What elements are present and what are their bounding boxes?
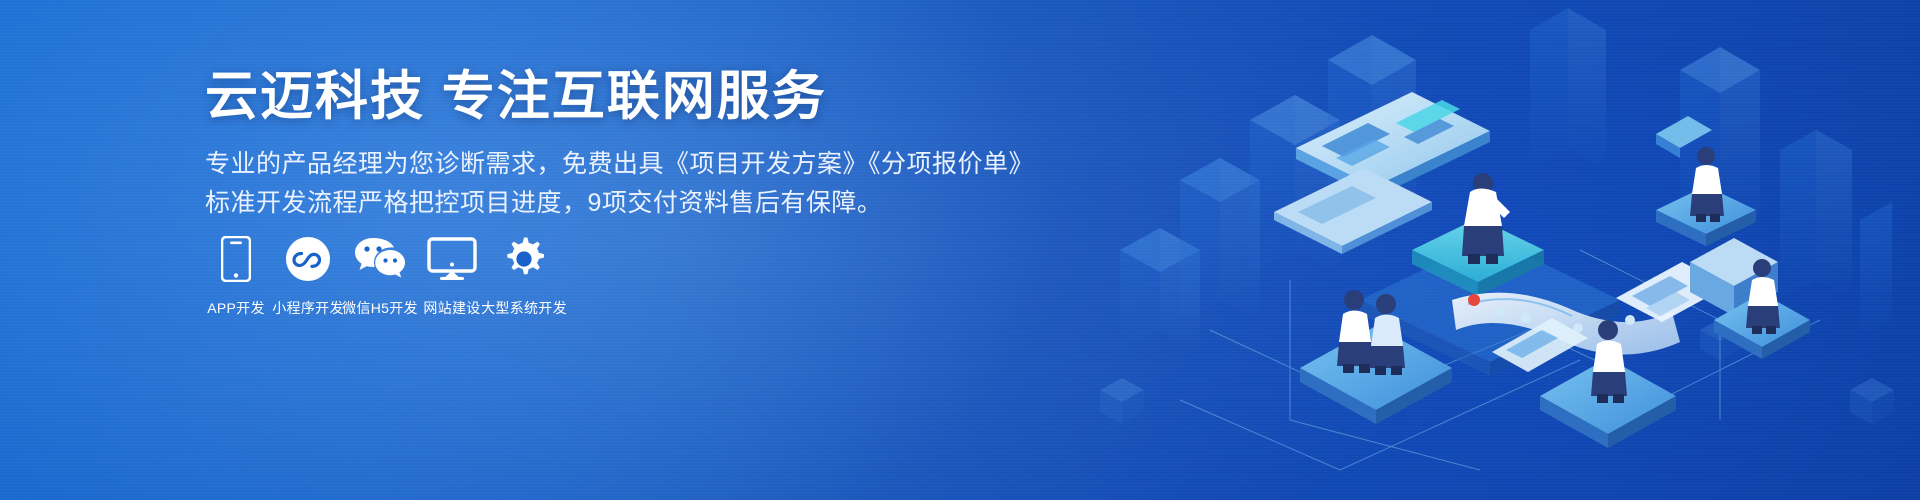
service-item-large-system[interactable]: 大型系统开发 (488, 234, 560, 318)
person-center (1462, 173, 1510, 264)
gear-icon (501, 234, 547, 284)
service-item-app[interactable]: APP开发 (200, 234, 272, 318)
service-label: 大型系统开发 (481, 298, 567, 318)
service-item-website[interactable]: 网站建设 (416, 234, 488, 318)
hero-banner: 云迈科技 专注互联网服务 专业的产品经理为您诊断需求，免费出具《项目开发方案》《… (0, 0, 1920, 500)
subtitle-line-2: 标准开发流程严格把控项目进度，9项交付资料售后有保障。 (205, 186, 1105, 222)
wechat-icon (354, 234, 406, 284)
monitor-icon (427, 234, 477, 284)
mini-program-icon (285, 234, 331, 284)
service-label: APP开发 (207, 298, 265, 318)
service-list: APP开发 小程序开发 微信 (200, 234, 560, 318)
service-item-wechat-h5[interactable]: 微信H5开发 (344, 234, 416, 318)
mobile-phone-icon (221, 234, 251, 284)
banner-content: 云迈科技 专注互联网服务 专业的产品经理为您诊断需求，免费出具《项目开发方案》《… (205, 66, 1105, 222)
service-label: 小程序开发 (272, 298, 344, 318)
isometric-illustration (1060, 0, 1920, 500)
service-label: 微信H5开发 (342, 298, 418, 318)
service-label: 网站建设 (423, 298, 480, 318)
subtitle-line-1: 专业的产品经理为您诊断需求，免费出具《项目开发方案》《分项报价单》 (205, 147, 1105, 183)
page-title: 云迈科技 专注互联网服务 (205, 66, 1105, 129)
service-item-miniprogram[interactable]: 小程序开发 (272, 234, 344, 318)
